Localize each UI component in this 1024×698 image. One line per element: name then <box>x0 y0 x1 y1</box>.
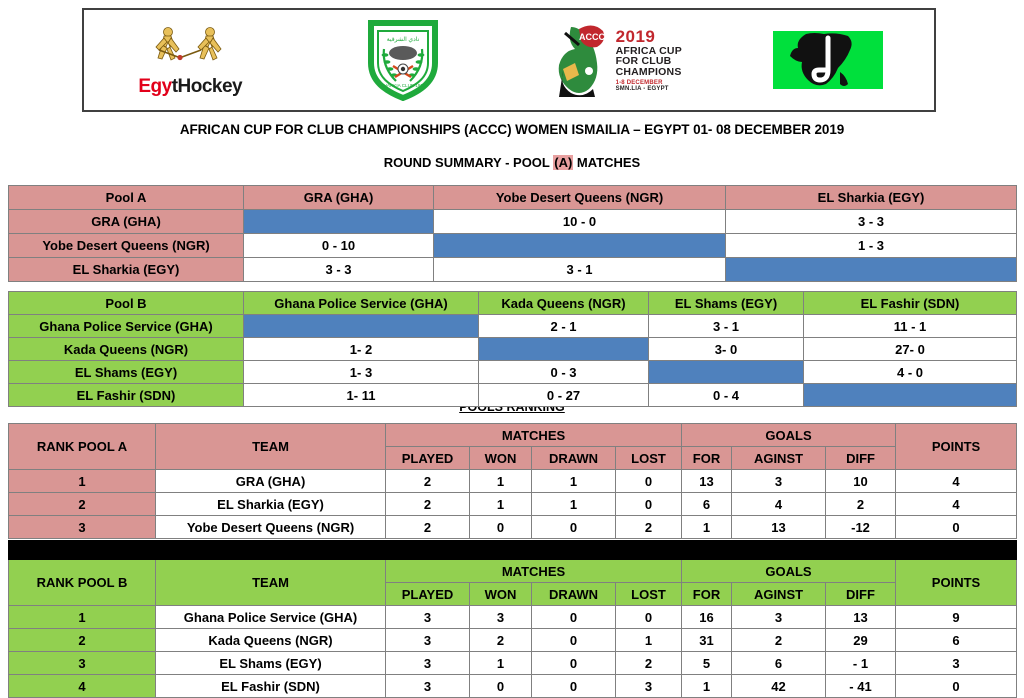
matrix-row-header: EL Shams (EGY) <box>9 361 244 384</box>
matrix-header-row: Pool AGRA (GHA)Yobe Desert Queens (NGR)E… <box>9 186 1017 210</box>
ranking-drawn-cell: 0 <box>532 606 616 629</box>
ranking-for-cell: 13 <box>682 470 732 493</box>
section-separator-band <box>9 541 1017 560</box>
ranking-rank-cell: 3 <box>9 652 156 675</box>
pool-a-results-matrix: Pool AGRA (GHA)Yobe Desert Queens (NGR)E… <box>8 185 1017 282</box>
ranking-won-cell: 3 <box>470 606 532 629</box>
subtitle-a-post: MATCHES <box>573 155 640 170</box>
accc-2019-logo: ACCC 2019 AFRICA CUP FOR CLUB CHAMPIONS … <box>509 10 722 110</box>
ranking-rank-cell: 3 <box>9 516 156 539</box>
separator-cell <box>616 541 682 560</box>
ranking-played-cell: 2 <box>386 493 470 516</box>
ranking-team-header: TEAM <box>156 424 386 470</box>
matrix-row-header: EL Fashir (SDN) <box>9 384 244 407</box>
ranking-drawn-cell: 0 <box>532 516 616 539</box>
matrix-diagonal-cell <box>479 338 649 361</box>
matrix-column-header: Ghana Police Service (GHA) <box>244 292 479 315</box>
ranking-rank-cell: 4 <box>9 675 156 698</box>
ranking-diff-cell: -12 <box>826 516 896 539</box>
matrix-score-cell: 3 - 3 <box>244 258 434 282</box>
ranking-diff-cell: 29 <box>826 629 896 652</box>
matrix-score-cell: 1- 11 <box>244 384 479 407</box>
sharkia-club-crest: نادي الشرقية SHARKIA CLUB 1935 <box>297 10 510 110</box>
matrix-diagonal-cell <box>244 210 434 234</box>
ranking-against-cell: 3 <box>732 470 826 493</box>
ranking-won-cell: 0 <box>470 516 532 539</box>
matrix-score-cell: 4 - 0 <box>804 361 1017 384</box>
ranking-points-cell: 6 <box>896 629 1017 652</box>
ranking-rank-header: RANK POOL B <box>9 560 156 606</box>
ranking-diff-header: DIFF <box>826 447 896 470</box>
ranking-won-cell: 0 <box>470 675 532 698</box>
ranking-drawn-header: DRAWN <box>532 583 616 606</box>
ranking-drawn-cell: 0 <box>532 652 616 675</box>
ranking-played-cell: 2 <box>386 516 470 539</box>
separator-cell <box>826 541 896 560</box>
ranking-diff-cell: 13 <box>826 606 896 629</box>
matrix-row: EL Shams (EGY)1- 30 - 34 - 0 <box>9 361 1017 384</box>
matrix-diagonal-cell <box>244 315 479 338</box>
matrix-row-header: Kada Queens (NGR) <box>9 338 244 361</box>
ranking-played-header: PLAYED <box>386 583 470 606</box>
ranking-rank-header: RANK POOL A <box>9 424 156 470</box>
ranking-team-cell: EL Fashir (SDN) <box>156 675 386 698</box>
matrix-header-row: Pool BGhana Police Service (GHA)Kada Que… <box>9 292 1017 315</box>
ranking-won-cell: 1 <box>470 652 532 675</box>
ranking-won-cell: 1 <box>470 470 532 493</box>
matrix-corner-label: Pool A <box>9 186 244 210</box>
matrix-score-cell: 1- 2 <box>244 338 479 361</box>
ranking-rank-cell: 2 <box>9 629 156 652</box>
ranking-diff-header: DIFF <box>826 583 896 606</box>
separator-cell <box>732 541 826 560</box>
matrix-row-header: Ghana Police Service (GHA) <box>9 315 244 338</box>
ranking-drawn-cell: 1 <box>532 470 616 493</box>
separator-cell <box>470 541 532 560</box>
matrix-diagonal-cell <box>434 234 726 258</box>
ranking-rank-cell: 2 <box>9 493 156 516</box>
matrix-row: GRA (GHA)10 - 03 - 3 <box>9 210 1017 234</box>
page-title: AFRICAN CUP FOR CLUB CHAMPIONSHIPS (ACCC… <box>0 122 1024 137</box>
accc-badge-text: ACCC <box>579 32 605 42</box>
ranking-won-cell: 1 <box>470 493 532 516</box>
ranking-played-cell: 3 <box>386 652 470 675</box>
matrix-score-cell: 3 - 1 <box>649 315 804 338</box>
accc-venue: SMN.LIA - EGYPT <box>616 86 682 92</box>
ranking-drawn-cell: 0 <box>532 675 616 698</box>
matrix-row: EL Sharkia (EGY)3 - 33 - 1 <box>9 258 1017 282</box>
ranking-team-cell: Yobe Desert Queens (NGR) <box>156 516 386 539</box>
matrix-column-header: EL Fashir (SDN) <box>804 292 1017 315</box>
ranking-pool-a-table: RANK POOL ATEAMMATCHESGOALSPOINTSPLAYEDW… <box>8 423 1017 539</box>
separator-cell <box>896 541 1017 560</box>
ranking-team-cell: GRA (GHA) <box>156 470 386 493</box>
matrix-column-header: EL Sharkia (EGY) <box>726 186 1017 210</box>
matrix-corner-label: Pool B <box>9 292 244 315</box>
ranking-team-cell: EL Shams (EGY) <box>156 652 386 675</box>
ranking-goals-header: GOALS <box>682 560 896 583</box>
ranking-team-header: TEAM <box>156 560 386 606</box>
crest-caption: SHARKIA CLUB 1935 <box>380 83 425 88</box>
ranking-played-cell: 3 <box>386 629 470 652</box>
ranking-played-cell: 2 <box>386 470 470 493</box>
matrix-score-cell: 0 - 10 <box>244 234 434 258</box>
egy-logo-black-text: Hockey <box>178 76 243 97</box>
ranking-for-header: FOR <box>682 583 732 606</box>
matrix-score-cell: 11 - 1 <box>804 315 1017 338</box>
hockey-players-icon <box>144 25 236 71</box>
ranking-header-row-1: RANK POOL BTEAMMATCHESGOALSPOINTS <box>9 560 1017 583</box>
ranking-played-cell: 3 <box>386 606 470 629</box>
matrix-column-header: Kada Queens (NGR) <box>479 292 649 315</box>
ranking-played-cell: 3 <box>386 675 470 698</box>
ranking-table-row: 2Kada Queens (NGR)3201312296 <box>9 629 1017 652</box>
matrix-column-header: GRA (GHA) <box>244 186 434 210</box>
accc-line-3: CHAMPIONS <box>616 67 682 78</box>
pool-b-results-matrix: Pool BGhana Police Service (GHA)Kada Que… <box>8 291 1017 407</box>
ranking-for-cell: 1 <box>682 675 732 698</box>
ranking-diff-cell: 2 <box>826 493 896 516</box>
matrix-score-cell: 1 - 3 <box>726 234 1017 258</box>
matrix-score-cell: 1- 3 <box>244 361 479 384</box>
ranking-rank-cell: 1 <box>9 470 156 493</box>
ranking-diff-cell: - 41 <box>826 675 896 698</box>
matrix-diagonal-cell <box>649 361 804 384</box>
ranking-lost-header: LOST <box>616 583 682 606</box>
ranking-lost-cell: 0 <box>616 493 682 516</box>
ranking-points-cell: 9 <box>896 606 1017 629</box>
ranking-lost-cell: 2 <box>616 516 682 539</box>
ranking-won-cell: 2 <box>470 629 532 652</box>
ranking-points-header: POINTS <box>896 560 1017 606</box>
matrix-score-cell: 3 - 3 <box>726 210 1017 234</box>
accc-year: 2019 <box>616 28 682 45</box>
matrix-column-header: EL Shams (EGY) <box>649 292 804 315</box>
ranking-diff-cell: - 1 <box>826 652 896 675</box>
matrix-score-cell: 2 - 1 <box>479 315 649 338</box>
ranking-table-row: 1Ghana Police Service (GHA)3300163139 <box>9 606 1017 629</box>
ranking-points-cell: 4 <box>896 493 1017 516</box>
ranking-table-row: 1GRA (GHA)2110133104 <box>9 470 1017 493</box>
matrix-row-header: Yobe Desert Queens (NGR) <box>9 234 244 258</box>
svg-text:نادي الشرقية: نادي الشرقية <box>386 36 419 43</box>
separator-cell <box>682 541 732 560</box>
ranking-against-header: AGINST <box>732 447 826 470</box>
ranking-lost-cell: 1 <box>616 629 682 652</box>
subtitle-pool-a-matches: ROUND SUMMARY - POOL (A) MATCHES <box>0 155 1024 170</box>
ranking-table-row: 2EL Sharkia (EGY)21106424 <box>9 493 1017 516</box>
separator-cell <box>156 541 386 560</box>
matrix-score-cell: 27- 0 <box>804 338 1017 361</box>
matrix-score-cell: 0 - 27 <box>479 384 649 407</box>
ranking-points-header: POINTS <box>896 424 1017 470</box>
ranking-points-cell: 4 <box>896 470 1017 493</box>
ranking-table-row: 4EL Fashir (SDN)3003142- 410 <box>9 675 1017 698</box>
club-shield-icon: نادي الشرقية SHARKIA CLUB 1935 <box>366 19 440 101</box>
ranking-team-cell: Kada Queens (NGR) <box>156 629 386 652</box>
ranking-for-cell: 5 <box>682 652 732 675</box>
ranking-table-row: 3EL Shams (EGY)310256- 13 <box>9 652 1017 675</box>
ranking-lost-cell: 0 <box>616 470 682 493</box>
ranking-lost-header: LOST <box>616 447 682 470</box>
ranking-against-cell: 42 <box>732 675 826 698</box>
separator-cell <box>9 541 156 560</box>
logo-banner: EgytHockey نادي الشرقية SHARKIA CLUB 193… <box>82 8 936 112</box>
ranking-drawn-header: DRAWN <box>532 447 616 470</box>
ranking-lost-cell: 0 <box>616 606 682 629</box>
ranking-for-cell: 31 <box>682 629 732 652</box>
ranking-against-cell: 4 <box>732 493 826 516</box>
ranking-pool-b-table: RANK POOL BTEAMMATCHESGOALSPOINTSPLAYEDW… <box>8 540 1017 698</box>
matrix-row-header: EL Sharkia (EGY) <box>9 258 244 282</box>
ranking-diff-cell: 10 <box>826 470 896 493</box>
ranking-against-cell: 13 <box>732 516 826 539</box>
ranking-points-cell: 3 <box>896 652 1017 675</box>
ranking-lost-cell: 3 <box>616 675 682 698</box>
matrix-row: Ghana Police Service (GHA)2 - 13 - 111 -… <box>9 315 1017 338</box>
subtitle-a-highlight: (A) <box>553 155 573 170</box>
matrix-column-header: Yobe Desert Queens (NGR) <box>434 186 726 210</box>
matrix-score-cell: 3 - 1 <box>434 258 726 282</box>
ranking-for-header: FOR <box>682 447 732 470</box>
ranking-against-cell: 6 <box>732 652 826 675</box>
egypt-hockey-logo: EgytHockey <box>84 10 297 110</box>
matrix-score-cell: 0 - 3 <box>479 361 649 384</box>
ranking-points-cell: 0 <box>896 675 1017 698</box>
ranking-lost-cell: 2 <box>616 652 682 675</box>
ranking-drawn-cell: 0 <box>532 629 616 652</box>
ranking-matches-header: MATCHES <box>386 424 682 447</box>
african-hockey-federation-logo <box>722 10 935 110</box>
matrix-score-cell: 0 - 4 <box>649 384 804 407</box>
accc-africa-badge-icon: ACCC <box>549 19 609 101</box>
ranking-team-cell: Ghana Police Service (GHA) <box>156 606 386 629</box>
egy-logo-red-text: Egy <box>138 76 171 97</box>
ranking-header-row-1: RANK POOL ATEAMMATCHESGOALSPOINTS <box>9 424 1017 447</box>
ranking-drawn-cell: 1 <box>532 493 616 516</box>
matrix-score-cell: 10 - 0 <box>434 210 726 234</box>
matrix-diagonal-cell <box>726 258 1017 282</box>
ranking-against-cell: 3 <box>732 606 826 629</box>
ranking-table-row: 3Yobe Desert Queens (NGR)2002113-120 <box>9 516 1017 539</box>
ranking-won-header: WON <box>470 447 532 470</box>
subtitle-a-pre: ROUND SUMMARY - POOL <box>384 155 554 170</box>
matrix-row: EL Fashir (SDN)1- 110 - 270 - 4 <box>9 384 1017 407</box>
matrix-score-cell: 3- 0 <box>649 338 804 361</box>
ranking-for-cell: 16 <box>682 606 732 629</box>
separator-cell <box>532 541 616 560</box>
ranking-team-cell: EL Sharkia (EGY) <box>156 493 386 516</box>
africa-map-hockey-stick-icon <box>776 32 880 88</box>
ranking-matches-header: MATCHES <box>386 560 682 583</box>
ranking-rank-cell: 1 <box>9 606 156 629</box>
ranking-goals-header: GOALS <box>682 424 896 447</box>
matrix-row: Yobe Desert Queens (NGR)0 - 101 - 3 <box>9 234 1017 258</box>
ranking-against-cell: 2 <box>732 629 826 652</box>
separator-cell <box>386 541 470 560</box>
ranking-for-cell: 1 <box>682 516 732 539</box>
ranking-won-header: WON <box>470 583 532 606</box>
ranking-for-cell: 6 <box>682 493 732 516</box>
matrix-diagonal-cell <box>804 384 1017 407</box>
ranking-played-header: PLAYED <box>386 447 470 470</box>
ranking-points-cell: 0 <box>896 516 1017 539</box>
matrix-row: Kada Queens (NGR)1- 23- 027- 0 <box>9 338 1017 361</box>
ranking-against-header: AGINST <box>732 583 826 606</box>
matrix-row-header: GRA (GHA) <box>9 210 244 234</box>
